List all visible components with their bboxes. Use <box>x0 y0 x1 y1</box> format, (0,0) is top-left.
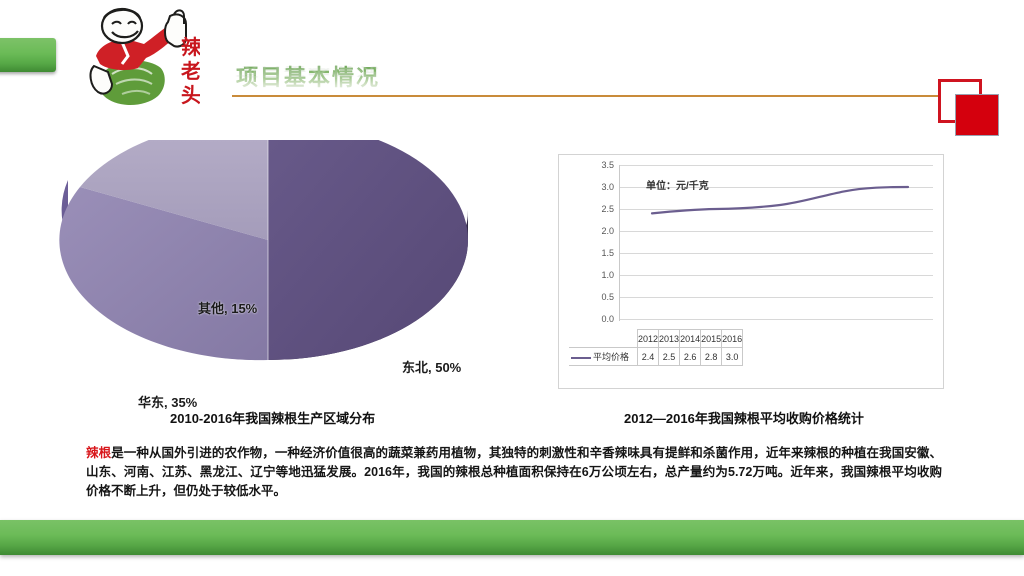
year-cell-1: 2013 <box>659 330 680 348</box>
title-underline-rule <box>232 95 946 97</box>
table-corner-blank <box>569 330 638 348</box>
legend-line-swatch-icon <box>571 357 591 359</box>
ytick-label-4: 1.5 <box>601 248 614 258</box>
ytick-label-2: 2.5 <box>601 204 614 214</box>
ytick-label-0: 3.5 <box>601 160 614 170</box>
price-series-line <box>620 165 940 323</box>
line-chart-caption: 2012—2016年我国辣根平均收购价格统计 <box>624 408 864 427</box>
value-cell-4: 3.0 <box>722 348 743 366</box>
decorative-green-tab <box>0 38 56 72</box>
line-chart-block: 3.5 3.0 2.5 2.0 1.5 1.0 0.5 0.0 <box>558 154 944 389</box>
series-name-label: 平均价格 <box>593 352 629 362</box>
year-cell-3: 2015 <box>701 330 722 348</box>
body-paragraph: 辣根是一种从国外引进的农作物，一种经济价值很高的蔬菜兼药用植物，其独特的刺激性和… <box>86 444 942 501</box>
value-cell-0: 2.4 <box>638 348 659 366</box>
line-chart-plot-area: 3.5 3.0 2.5 2.0 1.5 1.0 0.5 0.0 <box>619 165 933 321</box>
table-row-years: 2012 2013 2014 2015 2016 <box>569 330 743 348</box>
ytick-label-5: 1.0 <box>601 270 614 280</box>
body-keyword: 辣根 <box>86 446 111 460</box>
ytick-label-1: 3.0 <box>601 182 614 192</box>
pie-chart-graphic <box>48 140 488 390</box>
ytick-label-6: 0.5 <box>601 292 614 302</box>
year-cell-2: 2014 <box>680 330 701 348</box>
pie-chart-block: 其他, 15% 东北, 50% 华东, 35% <box>48 140 488 430</box>
line-chart-data-table: 2012 2013 2014 2015 2016 平均价格 2.4 2.5 2.… <box>569 329 743 366</box>
value-cell-3: 2.8 <box>701 348 722 366</box>
brand-logo: 辣 老 头 <box>82 4 200 116</box>
pie-chart-caption: 2010-2016年我国辣根生产区域分布 <box>170 408 375 427</box>
ytick-label-3: 2.0 <box>601 226 614 236</box>
series-legend-entry: 平均价格 <box>569 348 638 366</box>
logo-char-3: 头 <box>181 84 200 107</box>
decorative-square-filled <box>955 94 999 136</box>
pie-slice-label-other: 其他, 15% <box>198 298 257 317</box>
value-cell-2: 2.6 <box>680 348 701 366</box>
logo-char-1: 辣 <box>181 35 200 59</box>
page-title-reflection: 项目基本情况 <box>236 63 380 81</box>
logo-char-2: 老 <box>181 59 200 83</box>
ytick-label-7: 0.0 <box>601 314 614 324</box>
value-cell-1: 2.5 <box>659 348 680 366</box>
year-cell-0: 2012 <box>638 330 659 348</box>
table-row-values: 平均价格 2.4 2.5 2.6 2.8 3.0 <box>569 348 743 366</box>
footer-green-bar <box>0 520 1024 555</box>
body-paragraph-text: 是一种从国外引进的农作物，一种经济价值很高的蔬菜兼药用植物，其独特的刺激性和辛香… <box>86 446 942 498</box>
year-cell-4: 2016 <box>722 330 743 348</box>
pie-slice-label-northeast: 东北, 50% <box>402 357 461 376</box>
